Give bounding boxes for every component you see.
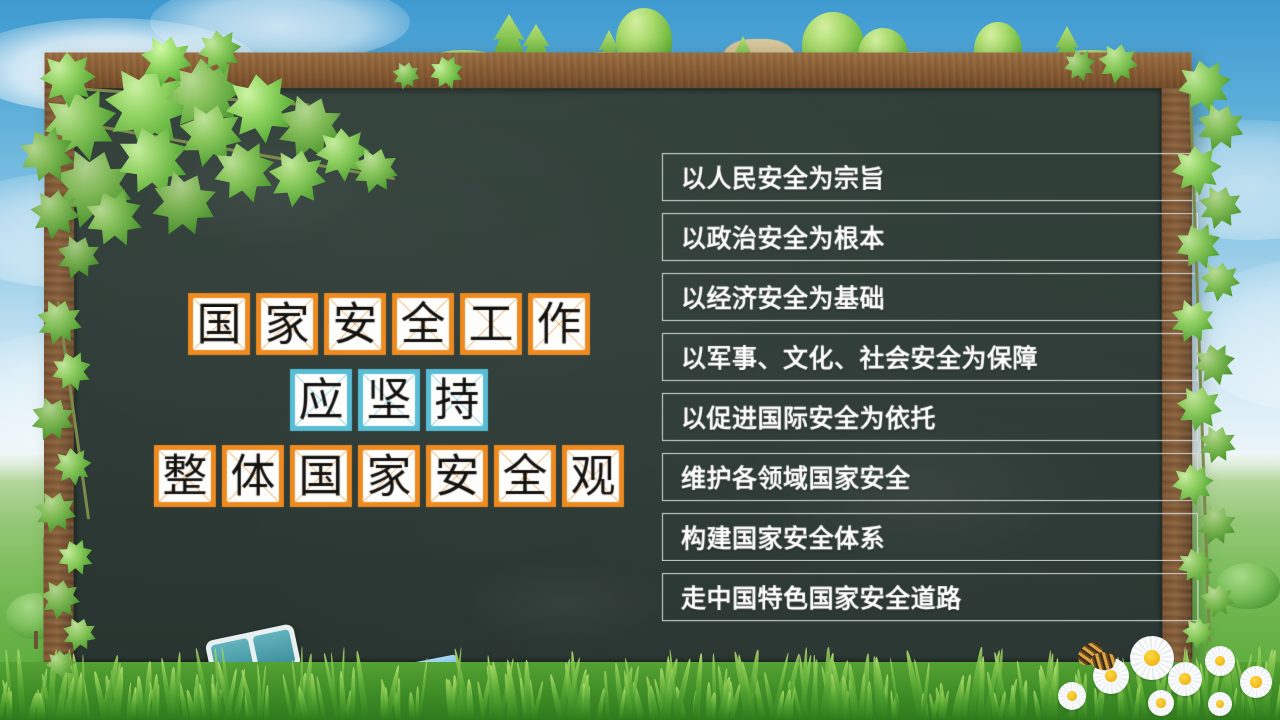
- frame-top-rail: [44, 52, 1191, 92]
- char-cell: 应: [290, 369, 352, 431]
- char-cell: 国: [188, 293, 250, 355]
- blackboard-frame: 国 家 安 全 工: [44, 52, 1193, 692]
- headline-character-grid: 国 家 安 全 工: [129, 293, 649, 613]
- slogan-item: 维护各领域国家安全: [662, 453, 1198, 501]
- slogan-label: 以军事、文化、社会安全为保障: [681, 339, 1038, 375]
- slogan-item: 以促进国际安全为依托: [662, 393, 1198, 441]
- char-glyph: 国: [197, 302, 242, 347]
- char-glyph: 整: [162, 454, 207, 499]
- char-cell: 观: [562, 445, 624, 507]
- pink-chalk: [278, 670, 326, 684]
- char-glyph: 坚: [366, 377, 411, 422]
- slogan-item: 走中国特色国家安全道路: [662, 573, 1198, 621]
- ivy-leaf: [1193, 181, 1247, 235]
- headline-row-2: 应 坚 持: [129, 369, 649, 431]
- char-glyph: 家: [366, 454, 411, 499]
- char-glyph: 作: [536, 302, 581, 347]
- slogan-item: 以军事、文化、社会安全为保障: [662, 333, 1198, 381]
- slogan-item: 以经济安全为基础: [662, 273, 1198, 321]
- char-glyph: 安: [333, 302, 378, 347]
- char-cell: 体: [222, 445, 284, 507]
- char-cell: 持: [426, 369, 488, 431]
- slogan-item: 构建国家安全体系: [662, 513, 1198, 561]
- char-cell: 安: [324, 293, 386, 355]
- distant-trunk-1: [34, 631, 38, 649]
- char-cell: 坚: [358, 369, 420, 431]
- eraser-pad-left: [210, 638, 254, 679]
- char-cell: 全: [494, 445, 556, 507]
- slogan-label: 维护各领域国家安全: [681, 459, 911, 495]
- char-glyph: 体: [230, 454, 275, 499]
- frame-left-rail: [44, 88, 75, 662]
- char-cell: 国: [290, 445, 352, 507]
- slogan-item: 以人民安全为宗旨: [662, 153, 1198, 201]
- char-cell: 作: [528, 293, 590, 355]
- slogan-label: 以人民安全为宗旨: [681, 159, 885, 195]
- char-glyph: 全: [400, 302, 445, 347]
- char-glyph: 应: [298, 377, 343, 422]
- char-cell: 安: [426, 445, 488, 507]
- char-glyph: 家: [265, 302, 310, 347]
- chalk-smudge-1: [134, 128, 394, 248]
- poster-canvas: 国 家 安 全 工: [0, 0, 1280, 720]
- ivy-leaf: [1197, 259, 1242, 304]
- blackboard-surface: 国 家 安 全 工: [74, 88, 1163, 662]
- char-glyph: 安: [434, 454, 479, 499]
- slogan-label: 以促进国际安全为依托: [681, 399, 936, 435]
- butterfly: [1077, 642, 1123, 676]
- slogan-label: 构建国家安全体系: [681, 519, 885, 555]
- char-cell: 工: [460, 293, 522, 355]
- slogan-label: 以经济安全为基础: [681, 279, 885, 315]
- headline-row-3: 整 体 国 家 安: [129, 445, 649, 507]
- char-glyph: 全: [502, 454, 547, 499]
- char-glyph: 国: [298, 454, 343, 499]
- slogan-list: 以人民安全为宗旨 以政治安全为根本 以经济安全为基础 以军事、文化、社会安全为保…: [662, 153, 1198, 621]
- char-cell: 家: [256, 293, 318, 355]
- char-glyph: 工: [468, 302, 513, 347]
- slogan-label: 走中国特色国家安全道路: [681, 579, 962, 615]
- headline-row-1: 国 家 安 全 工: [129, 293, 649, 355]
- char-glyph: 观: [570, 454, 615, 499]
- char-glyph: 持: [434, 377, 479, 422]
- char-cell: 家: [358, 445, 420, 507]
- eraser-pad-right: [252, 629, 296, 670]
- cloud-5: [1190, 260, 1280, 410]
- slogan-item: 以政治安全为根本: [662, 213, 1198, 261]
- char-cell: 整: [154, 445, 216, 507]
- char-cell: 全: [392, 293, 454, 355]
- slogan-label: 以政治安全为根本: [681, 219, 885, 255]
- distant-tree-5: [1216, 563, 1280, 609]
